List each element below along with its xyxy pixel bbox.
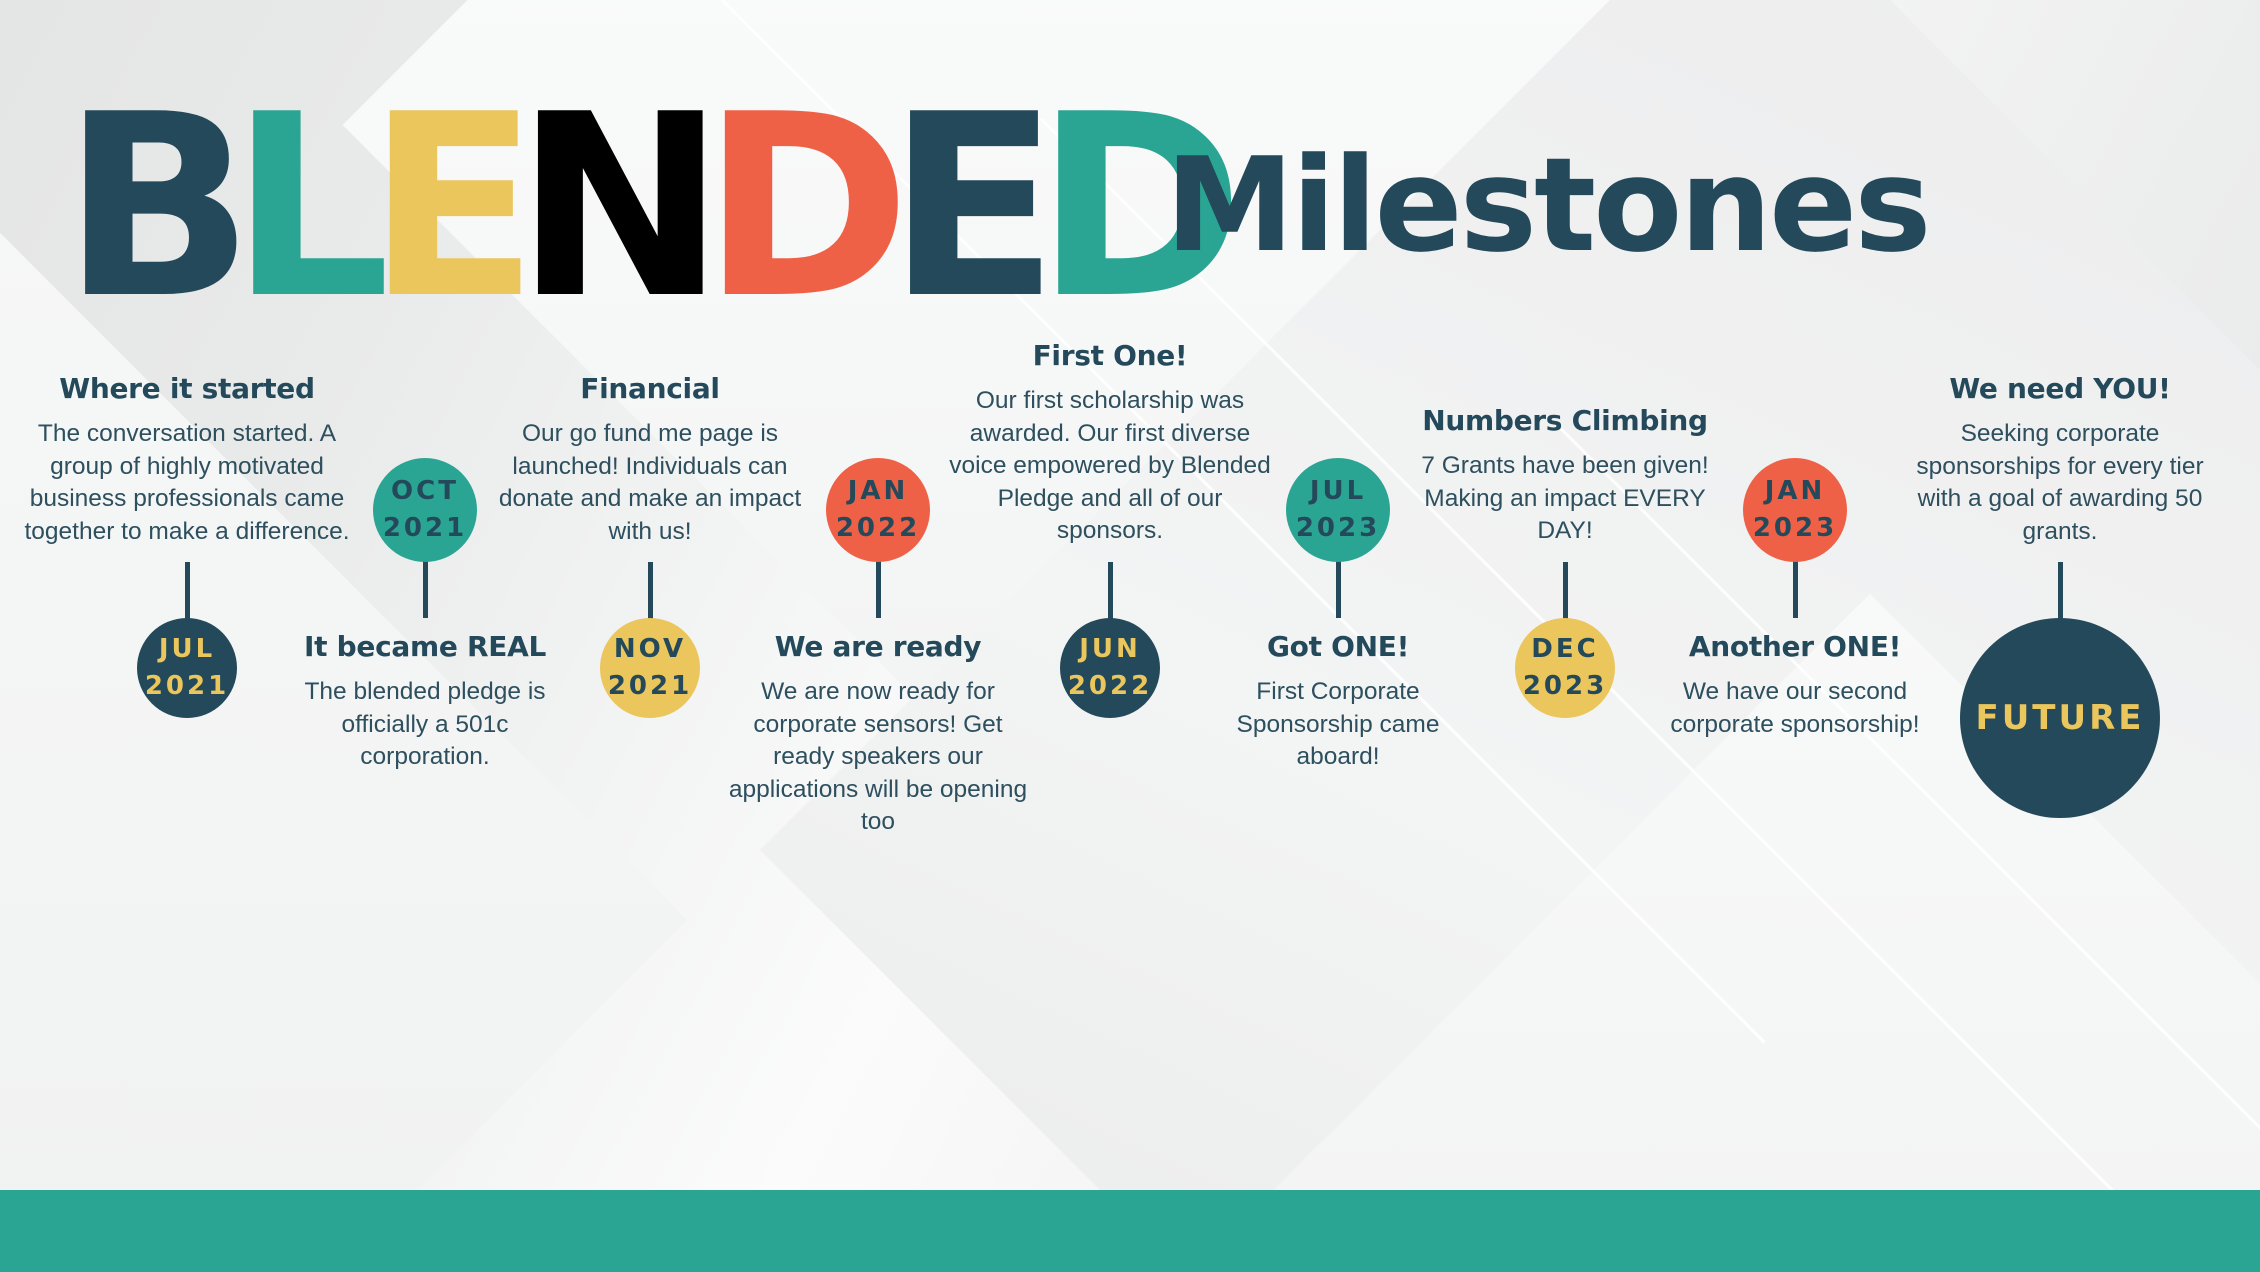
milestone-text-financial: FinancialOur go fund me page is launched… [485, 372, 815, 548]
date-bubble-numbers-climbing[interactable]: DEC2023 [1515, 618, 1615, 718]
bubble-year-got-one: 2023 [1296, 510, 1380, 547]
bubble-month-we-are-ready: JAN [848, 473, 909, 510]
milestone-body-first-one: Our first scholarship was awarded. Our f… [945, 385, 1275, 548]
bubble-year-first-one: 2022 [1068, 668, 1152, 705]
date-bubble-where-it-started[interactable]: JUL2021 [137, 618, 237, 718]
bubble-year-another-one: 2023 [1753, 510, 1837, 547]
milestone-body-numbers-climbing: 7 Grants have been given! Making an impa… [1400, 450, 1730, 548]
connector-stem-we-need-you [2058, 562, 2063, 624]
bubble-year-where-it-started: 2021 [145, 668, 229, 705]
logo-letter-b-0: B [62, 90, 230, 327]
connector-stem-got-one [1336, 556, 1341, 618]
connector-stem-another-one [1793, 556, 1798, 618]
milestone-heading-where-it-started: Where it started [17, 372, 357, 405]
bubble-month-first-one: JUN [1079, 631, 1141, 668]
milestone-body-we-are-ready: We are now ready for corporate sensors! … [728, 676, 1028, 839]
bubble-month-financial: NOV [614, 631, 686, 668]
milestone-heading-financial: Financial [485, 372, 815, 405]
date-bubble-financial[interactable]: NOV2021 [600, 618, 700, 718]
bubble-year-financial: 2021 [608, 668, 692, 705]
milestone-body-got-one: First Corporate Sponsorship came aboard! [1203, 676, 1473, 774]
date-bubble-got-one[interactable]: JUL2023 [1286, 458, 1390, 562]
logo-letter-d-4: D [702, 90, 887, 327]
milestone-text-another-one: Another ONE!We have our second corporate… [1645, 630, 1945, 741]
logo-letter-n-3: N [515, 90, 702, 327]
milestone-text-we-need-you: We need YOU!Seeking corporate sponsorshi… [1900, 372, 2220, 548]
date-bubble-it-became-real[interactable]: OCT2021 [373, 458, 477, 562]
logo-letter-l-1: L [230, 90, 367, 327]
milestone-body-financial: Our go fund me page is launched! Individ… [485, 418, 815, 548]
milestone-heading-first-one: First One! [945, 339, 1275, 372]
bubble-year-we-are-ready: 2022 [836, 510, 920, 547]
bubble-month-got-one: JUL [1310, 473, 1366, 510]
bubble-month-where-it-started: JUL [159, 631, 215, 668]
milestone-heading-we-need-you: We need YOU! [1900, 372, 2220, 405]
milestone-text-got-one: Got ONE!First Corporate Sponsorship came… [1203, 630, 1473, 774]
milestone-heading-got-one: Got ONE! [1203, 630, 1473, 663]
bubble-year-it-became-real: 2021 [383, 510, 467, 547]
connector-stem-we-are-ready [876, 556, 881, 618]
bubble-month-numbers-climbing: DEC [1531, 631, 1598, 668]
milestone-text-first-one: First One!Our first scholarship was awar… [945, 339, 1275, 548]
milestone-heading-we-are-ready: We are ready [728, 630, 1028, 663]
milestone-text-we-are-ready: We are readyWe are now ready for corpora… [728, 630, 1028, 839]
date-bubble-we-are-ready[interactable]: JAN2022 [826, 458, 930, 562]
connector-stem-financial [648, 562, 653, 624]
date-bubble-we-need-you[interactable]: FUTURE [1960, 618, 2160, 818]
milestone-heading-another-one: Another ONE! [1645, 630, 1945, 663]
logo-letter-e-2: E [367, 90, 515, 327]
footer-accent-bar [0, 1190, 2260, 1272]
milestone-heading-numbers-climbing: Numbers Climbing [1400, 404, 1730, 437]
connector-stem-numbers-climbing [1563, 562, 1568, 624]
logo-letter-e-5: E [887, 90, 1035, 327]
milestone-body-where-it-started: The conversation started. A group of hig… [17, 418, 357, 548]
bubble-year-numbers-climbing: 2023 [1523, 668, 1607, 705]
date-bubble-another-one[interactable]: JAN2023 [1743, 458, 1847, 562]
bubble-month-it-became-real: OCT [391, 473, 459, 510]
milestone-text-where-it-started: Where it startedThe conversation started… [17, 372, 357, 548]
milestone-timeline: Where it startedThe conversation started… [0, 390, 2260, 1010]
milestone-heading-it-became-real: It became REAL [275, 630, 575, 663]
bubble-month-we-need-you: FUTURE [1975, 694, 2144, 742]
bubble-month-another-one: JAN [1765, 473, 1826, 510]
blended-logo: BLENDED [62, 90, 1220, 327]
connector-stem-it-became-real [423, 556, 428, 618]
milestone-text-it-became-real: It became REALThe blended pledge is offi… [275, 630, 575, 774]
date-bubble-first-one[interactable]: JUN2022 [1060, 618, 1160, 718]
milestone-text-numbers-climbing: Numbers Climbing7 Grants have been given… [1400, 404, 1730, 548]
milestone-body-it-became-real: The blended pledge is officially a 501c … [275, 676, 575, 774]
milestone-body-we-need-you: Seeking corporate sponsorships for every… [1900, 418, 2220, 548]
page-title: Milestones [1165, 140, 1929, 270]
connector-stem-where-it-started [185, 562, 190, 624]
connector-stem-first-one [1108, 562, 1113, 624]
header: BLENDED Milestones [0, 0, 2260, 380]
infographic-canvas: BLENDED Milestones Where it startedThe c… [0, 0, 2260, 1272]
milestone-body-another-one: We have our second corporate sponsorship… [1645, 676, 1945, 741]
